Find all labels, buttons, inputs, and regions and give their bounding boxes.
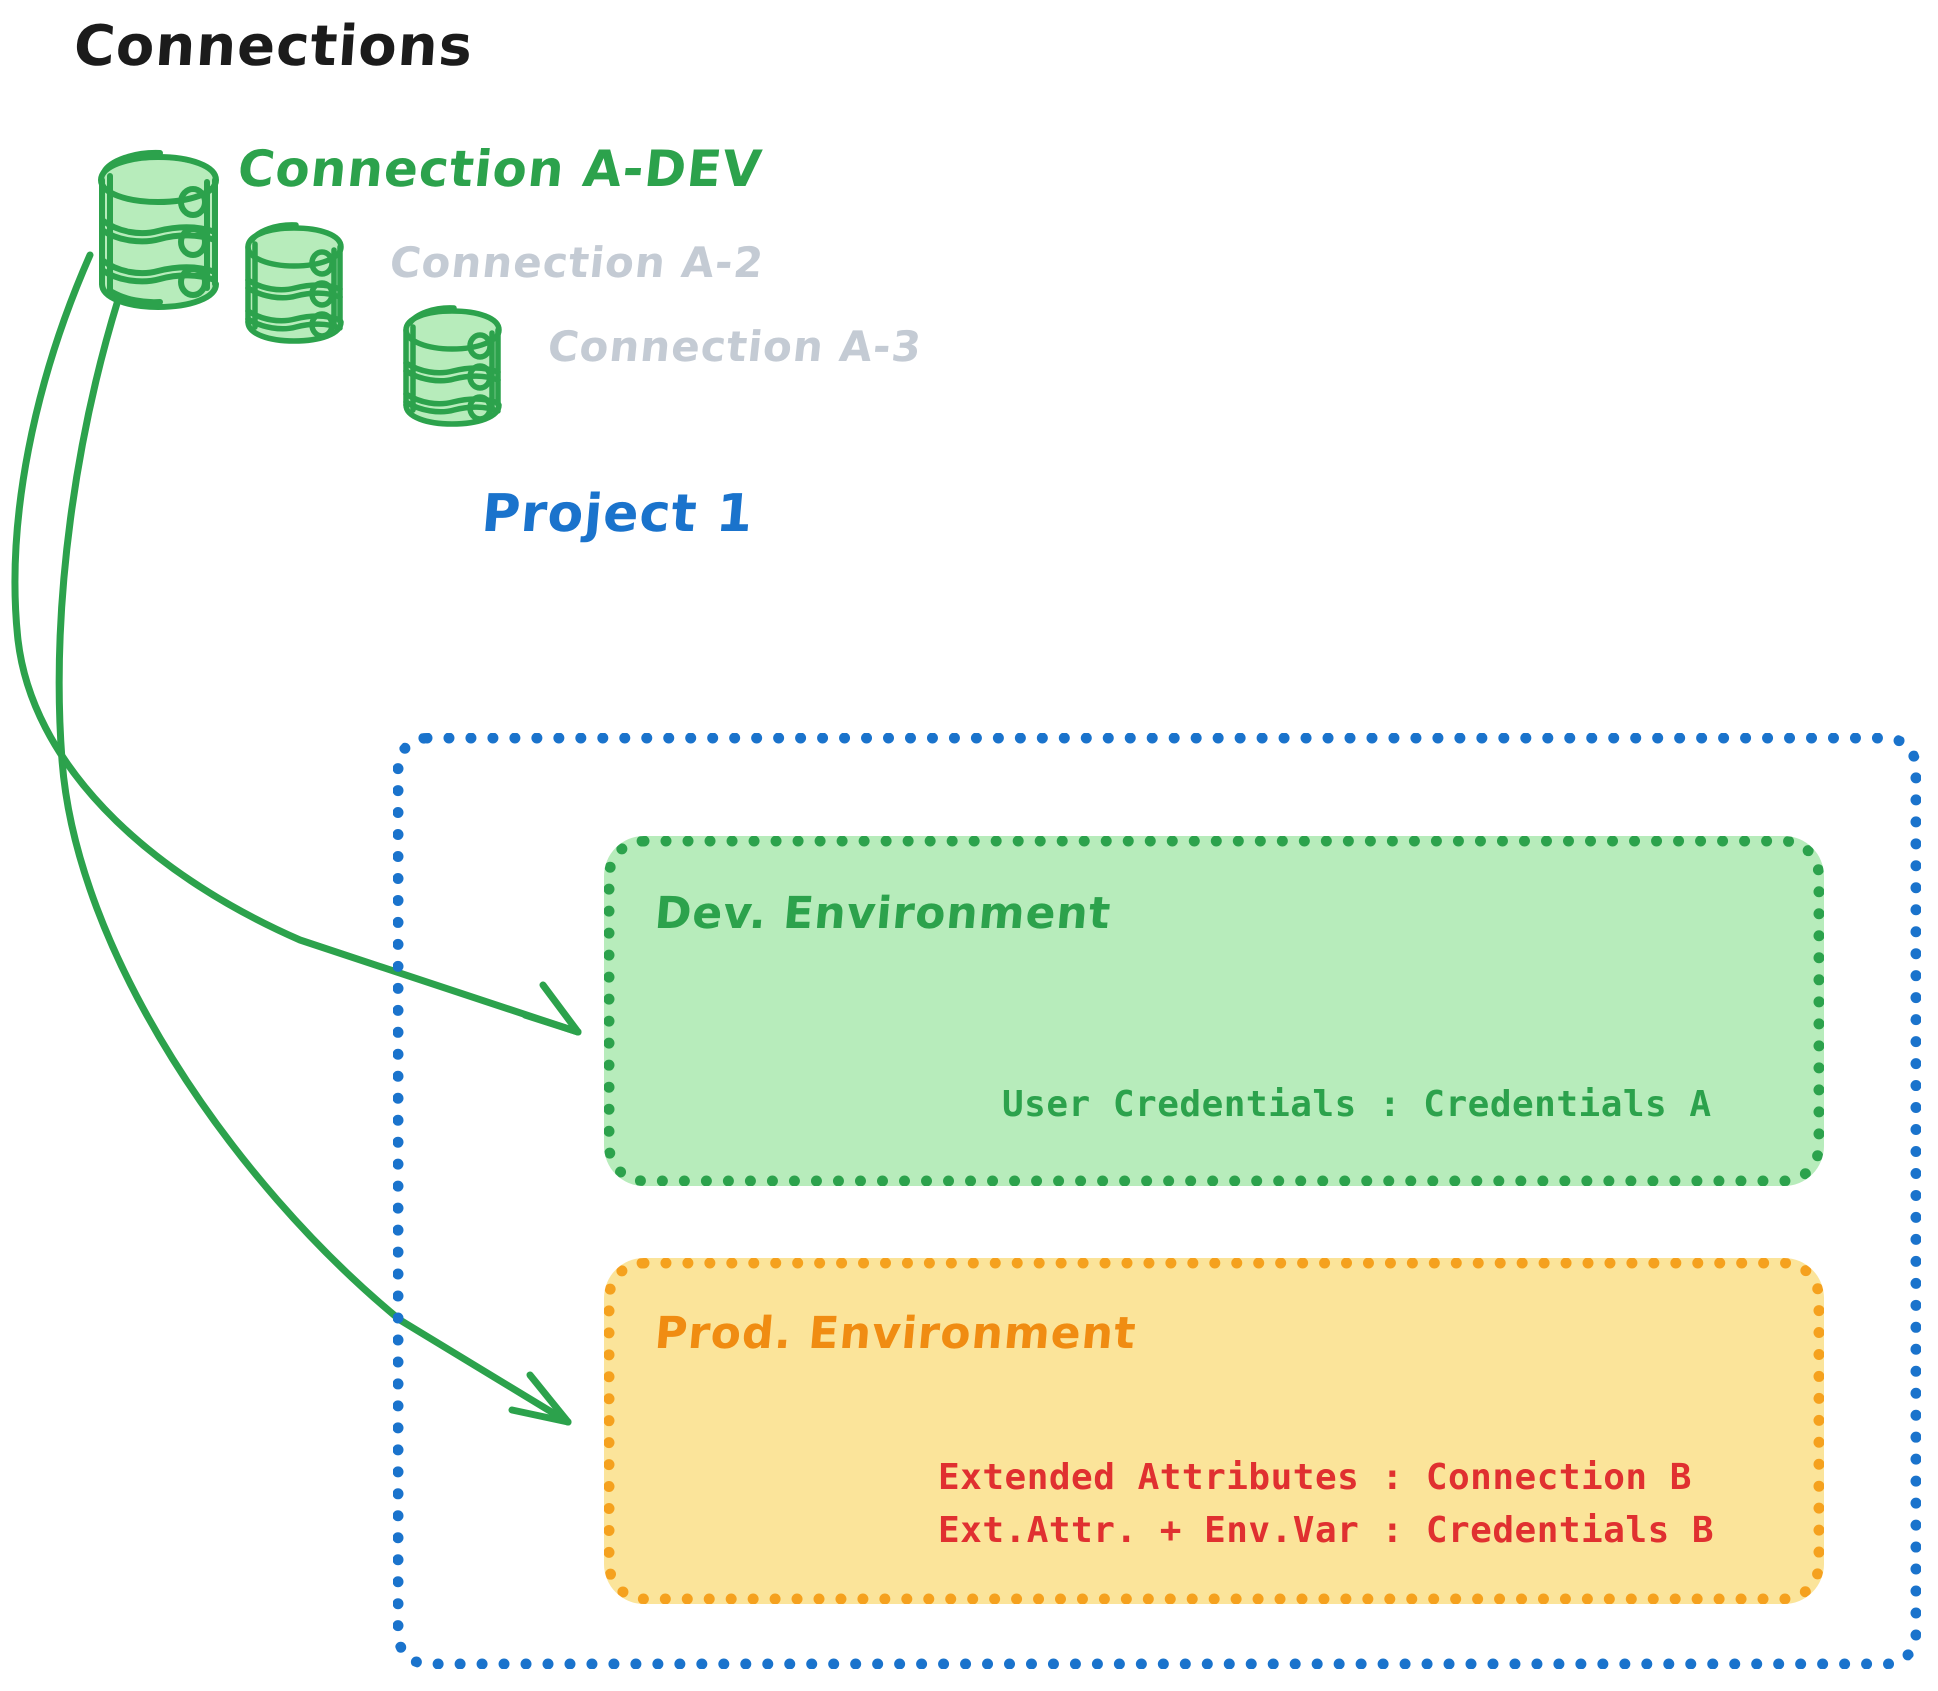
- dev-row-user-credentials: User Credentials : Credentials A: [1002, 1084, 1712, 1125]
- connection-label-a-dev[interactable]: Connection A-DEV: [235, 140, 765, 198]
- prod-row-ext-attr-env-var: Ext.Attr. + Env.Var : Credentials B: [938, 1510, 1714, 1551]
- diagram-canvas: Connections Connection A-DEV Connection …: [0, 0, 1938, 1691]
- prod-row-extended-attributes: Extended Attributes : Connection B: [938, 1457, 1692, 1498]
- dev-environment-title: Dev. Environment: [653, 888, 1113, 939]
- connection-label-a-2[interactable]: Connection A-2: [387, 238, 766, 287]
- text-layer: Connections Connection A-DEV Connection …: [0, 0, 1938, 1691]
- connection-label-a-3[interactable]: Connection A-3: [545, 322, 924, 371]
- project-title: Project 1: [479, 484, 756, 544]
- prod-environment-title: Prod. Environment: [653, 1308, 1139, 1359]
- page-title: Connections: [72, 14, 476, 79]
